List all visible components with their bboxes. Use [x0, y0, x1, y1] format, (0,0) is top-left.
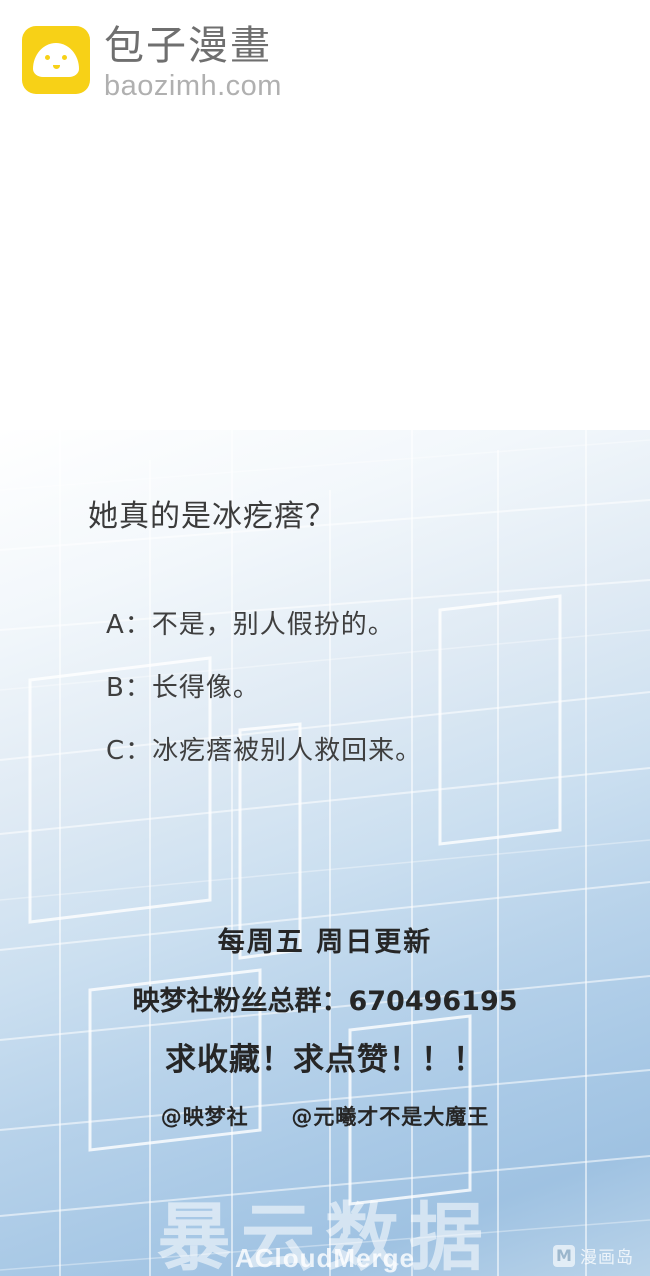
question-text: 她真的是冰疙瘩？ [88, 491, 336, 535]
promo-block: 每周五 周日更新 映梦社粉丝总群：670496195 求收藏！求点赞！！！ @映… [0, 920, 650, 1131]
blueprint-lines [0, 430, 650, 1276]
update-schedule: 每周五 周日更新 [0, 920, 650, 959]
call-to-action: 求收藏！求点赞！！！ [0, 1034, 650, 1079]
bun-face-icon [33, 43, 79, 77]
choice-list: A：不是，别人假扮的。 B：长得像。 C：冰疙瘩被别人救回来。 [106, 604, 422, 793]
site-title-en: baozimh.com [104, 72, 282, 101]
choice-b: B：长得像。 [106, 667, 422, 704]
bun-mouth-icon [53, 65, 60, 69]
site-watermark-text: 包子漫畫 baozimh.com [104, 26, 282, 101]
site-title-cn: 包子漫畫 [104, 26, 282, 66]
comic-page: 包子漫畫 baozimh.com [0, 0, 650, 1276]
baozi-logo-icon [22, 26, 90, 94]
credit-author: @映梦社 [161, 1105, 249, 1129]
choice-c: C：冰疙瘩被别人救回来。 [106, 730, 422, 767]
credit-artist: @元曦才不是大魔王 [291, 1105, 489, 1129]
credits: @映梦社 @元曦才不是大魔王 [0, 1101, 650, 1131]
fan-group: 映梦社粉丝总群：670496195 [0, 979, 650, 1018]
panel-artwork [0, 430, 650, 1276]
site-watermark: 包子漫畫 baozimh.com [22, 26, 282, 96]
choice-a: A：不是，别人假扮的。 [106, 604, 422, 641]
